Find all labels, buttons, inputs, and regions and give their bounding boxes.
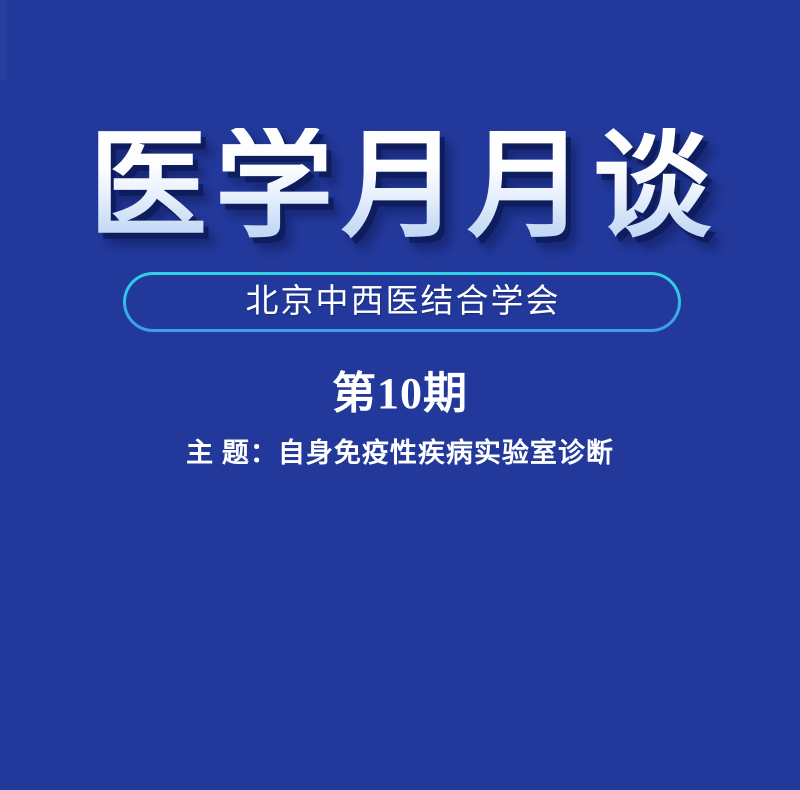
society-pill: 北京中西医结合学会 <box>123 272 681 332</box>
title-block: 医学月月谈 <box>0 128 800 246</box>
topic-line: 主 题：自身免疫性疾病实验室诊断 <box>0 437 800 469</box>
issue-label: 第10期 <box>0 370 800 418</box>
society-name: 北京中西医结合学会 <box>244 286 561 319</box>
page-title: 医学月月谈 <box>81 128 719 246</box>
left-edge-highlight <box>0 0 7 80</box>
poster-canvas: 医学月月谈 北京中西医结合学会 第10期 主 题：自身免疫性疾病实验室诊断 <box>0 0 800 790</box>
